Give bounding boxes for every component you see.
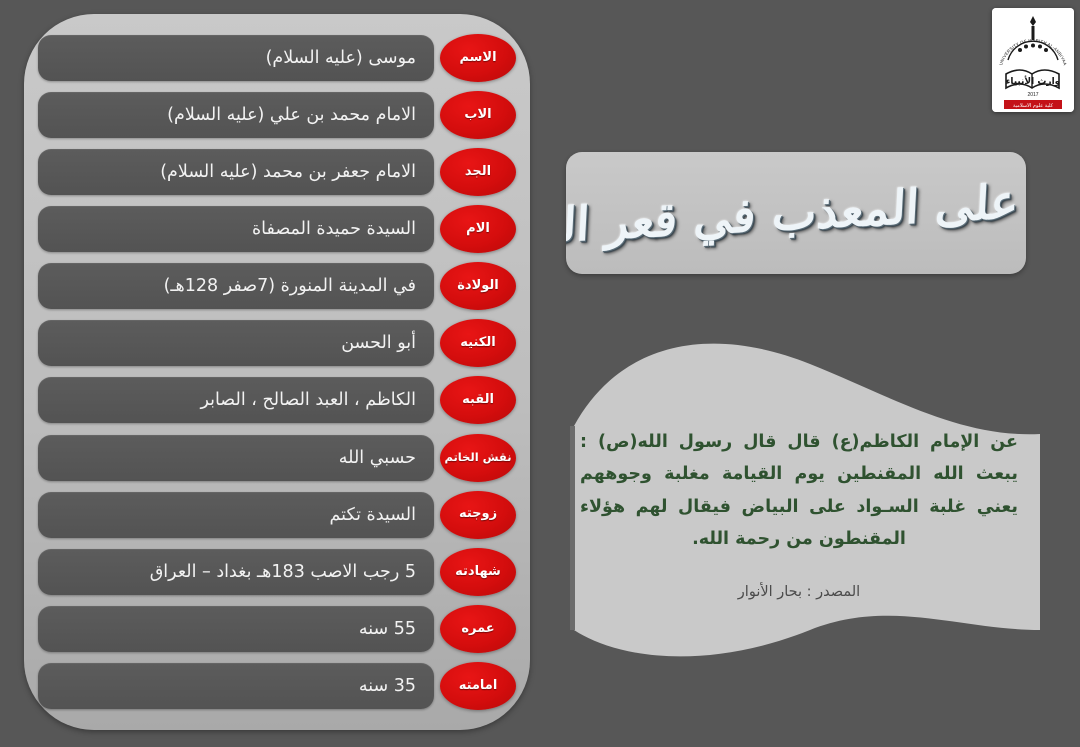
table-row: امامته 35 سنه (38, 662, 516, 710)
row-value-seal-inscription: حسبي الله (38, 435, 434, 481)
row-value-martyrdom: 5 رجب الاصب 183هـ بغداد – العراق (38, 549, 434, 595)
row-label-birth: الولادة (440, 262, 516, 310)
hadith-body: عن الإمام الكاظم(ع) قال قال رسول الله(ص)… (580, 426, 1018, 600)
table-row: الجد الامام جعفر بن محمد (عليه السلام) (38, 148, 516, 196)
row-value-father: الامام محمد بن علي (عليه السلام) (38, 92, 434, 138)
calligraphy-text: السلام على المعذب في قعر السجون (566, 166, 1026, 259)
hadith-text: عن الإمام الكاظم(ع) قال قال رسول الله(ص)… (580, 426, 1018, 556)
row-label-name: الاسم (440, 34, 516, 82)
row-value-mother: السيدة حميدة المصفاة (38, 206, 434, 252)
row-label-imamate: امامته (440, 662, 516, 710)
table-row: شهادته 5 رجب الاصب 183هـ بغداد – العراق (38, 548, 516, 596)
table-row: عمره 55 سنه (38, 605, 516, 653)
table-row: القبه الكاظم ، العبد الصالح ، الصابر (38, 376, 516, 424)
row-value-birth: في المدينة المنورة (7صفر 128هـ) (38, 263, 434, 309)
row-value-imamate: 35 سنه (38, 663, 434, 709)
row-label-seal-inscription: نقش الخاتم (440, 434, 516, 482)
info-panel: الاسم موسى (عليه السلام) الاب الامام محم… (24, 14, 530, 730)
table-row: الولادة في المدينة المنورة (7صفر 128هـ) (38, 262, 516, 310)
row-value-kunya: أبو الحسن (38, 320, 434, 366)
table-row: زوجته السيدة تكتم (38, 491, 516, 539)
emblem-icon: UNIVERSITY OF WARITH AL-ANBIYAA وارث الأ… (992, 8, 1074, 112)
table-row: الاب الامام محمد بن علي (عليه السلام) (38, 91, 516, 139)
row-value-grandfather: الامام جعفر بن محمد (عليه السلام) (38, 149, 434, 195)
hadith-flag-panel: عن الإمام الكاظم(ع) قال قال رسول الله(ص)… (560, 330, 1040, 720)
row-value-name: موسى (عليه السلام) (38, 35, 434, 81)
emblem-arabic-name: وارث الأنبياء (1006, 75, 1061, 87)
calligraphy-banner: السلام على المعذب في قعر السجون (566, 152, 1026, 274)
emblem-banner-text: كلية علوم الاسلامية (1013, 103, 1054, 109)
table-row: الام السيدة حميدة المصفاة (38, 205, 516, 253)
university-emblem: UNIVERSITY OF WARITH AL-ANBIYAA وارث الأ… (992, 8, 1074, 112)
emblem-year: 2017 (1027, 92, 1038, 98)
hadith-source: المصدر : بحار الأنوار (580, 584, 1018, 600)
row-label-mother: الام (440, 205, 516, 253)
row-value-wife: السيدة تكتم (38, 492, 434, 538)
info-rows-list: الاسم موسى (عليه السلام) الاب الامام محم… (24, 14, 530, 730)
row-label-age: عمره (440, 605, 516, 653)
row-value-titles: الكاظم ، العبد الصالح ، الصابر (38, 377, 434, 423)
row-label-grandfather: الجد (440, 148, 516, 196)
row-label-titles: القبه (440, 376, 516, 424)
table-row: الاسم موسى (عليه السلام) (38, 34, 516, 82)
row-value-age: 55 سنه (38, 606, 434, 652)
row-label-kunya: الكنيه (440, 319, 516, 367)
table-row: نقش الخاتم حسبي الله (38, 434, 516, 482)
row-label-martyrdom: شهادته (440, 548, 516, 596)
table-row: الكنيه أبو الحسن (38, 319, 516, 367)
row-label-wife: زوجته (440, 491, 516, 539)
row-label-father: الاب (440, 91, 516, 139)
